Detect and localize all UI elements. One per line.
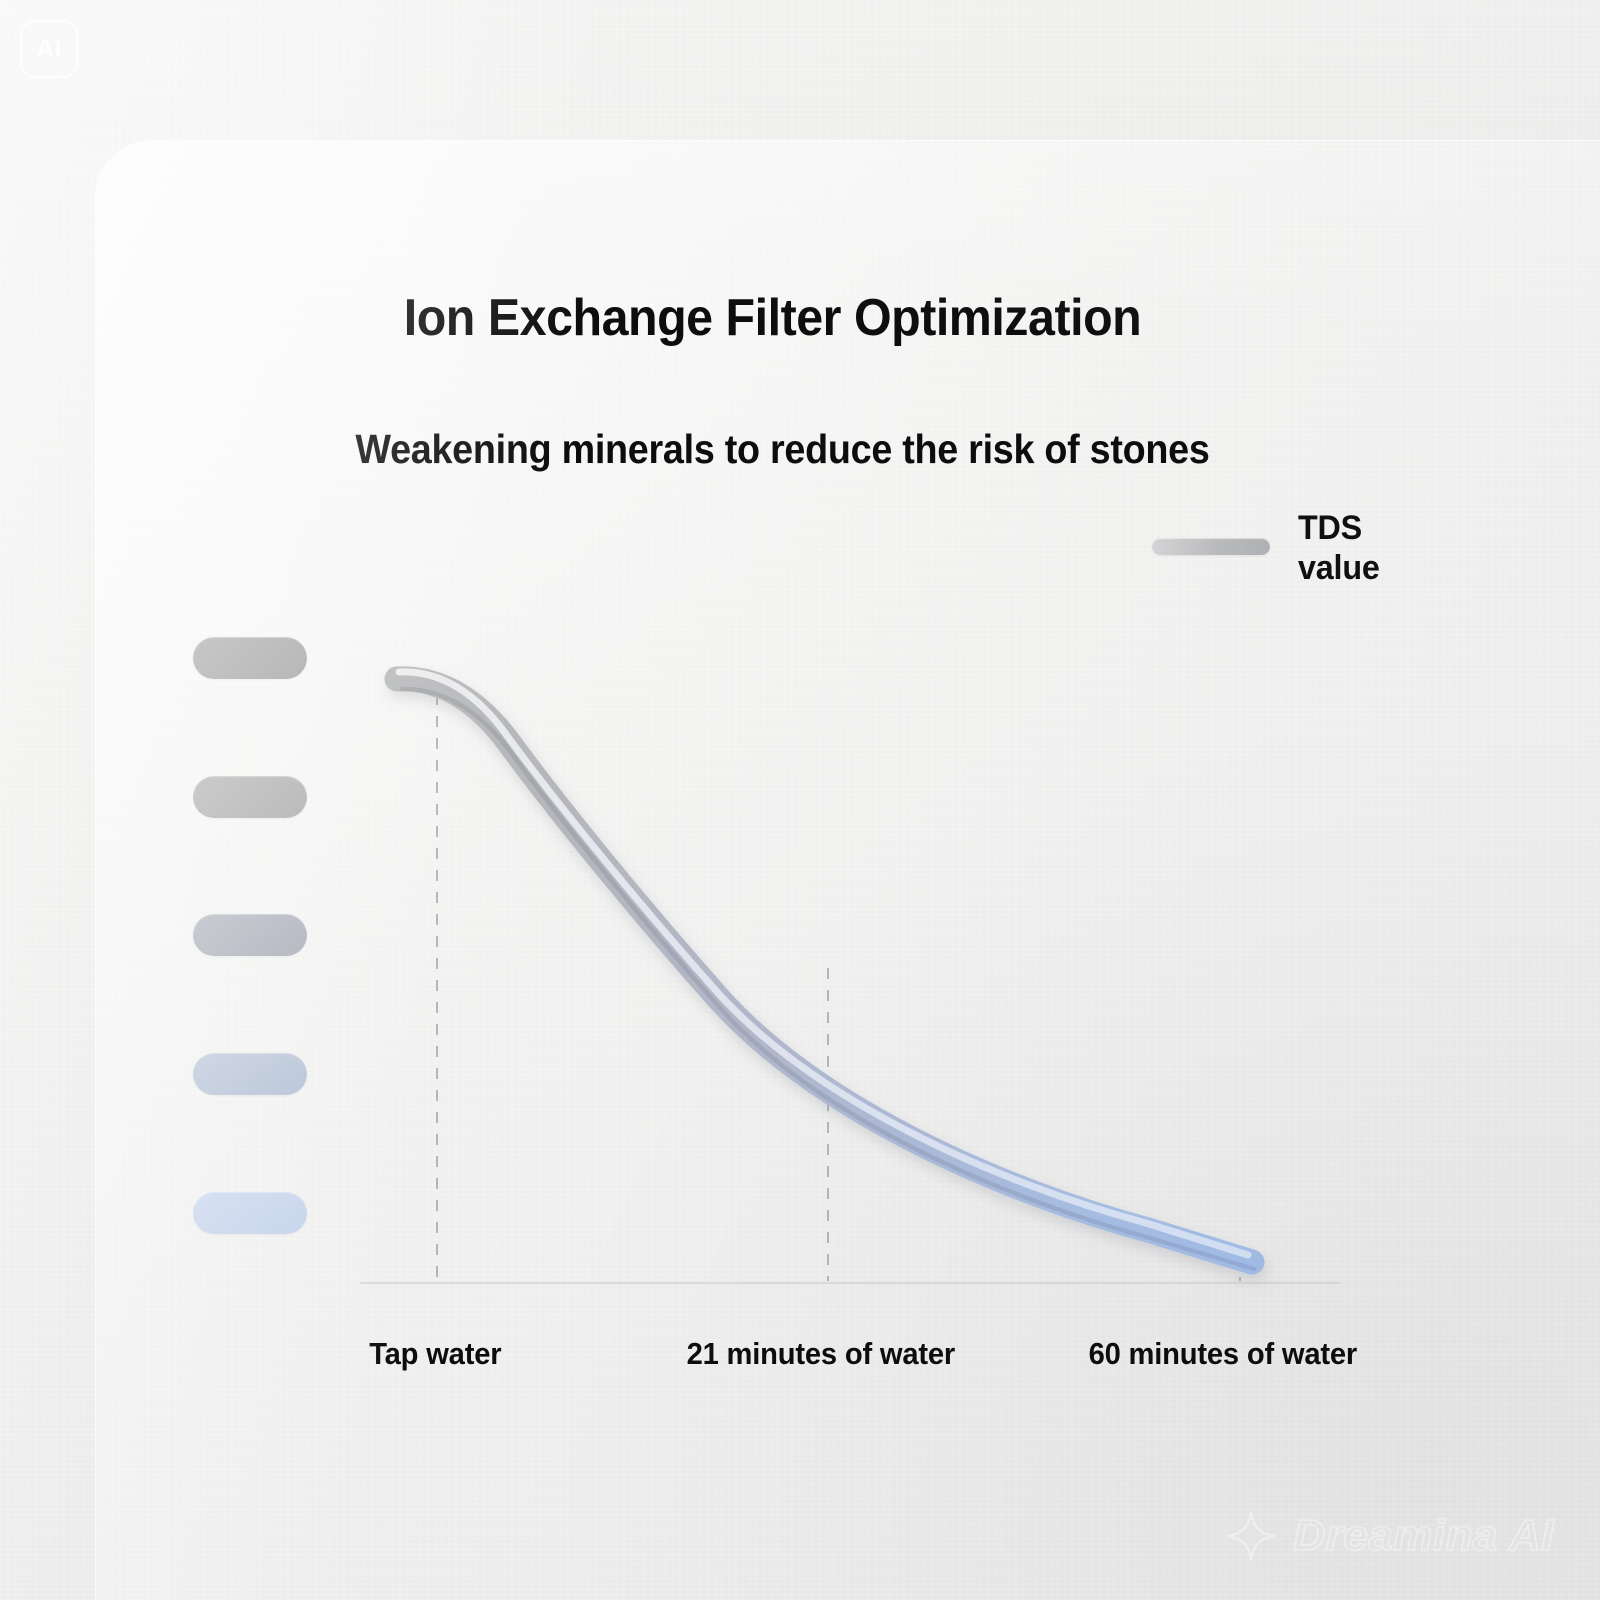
page-title: Ion Exchange Filter Optimization: [54, 288, 1491, 348]
x-axis-label-3: 60 minutes of water: [1089, 1336, 1357, 1372]
legend-label-line1: TDS: [1298, 508, 1380, 548]
legend-swatch-tds: [1152, 538, 1270, 555]
ai-badge-icon: AI: [20, 20, 78, 78]
content-card-panel: [95, 140, 1600, 1600]
page-subtitle: Weakening minerals to reduce the risk of…: [63, 426, 1503, 473]
x-axis-label-2: 21 minutes of water: [687, 1336, 955, 1372]
y-tick-placeholder-1: [193, 637, 307, 679]
x-axis-label-1: Tap water: [369, 1336, 501, 1372]
legend-label-line2: value: [1298, 548, 1380, 588]
legend-label-tds: TDS value: [1298, 508, 1380, 588]
y-tick-placeholder-3: [193, 914, 307, 956]
chart-canvas: AI Ion Exchange Filter Optimization Weak…: [0, 0, 1600, 1600]
chart-legend: TDS value: [1152, 508, 1412, 598]
y-tick-placeholder-4: [193, 1053, 307, 1095]
y-tick-placeholder-2: [193, 776, 307, 818]
y-tick-placeholder-5: [193, 1192, 307, 1234]
ai-badge-label: AI: [36, 35, 62, 64]
